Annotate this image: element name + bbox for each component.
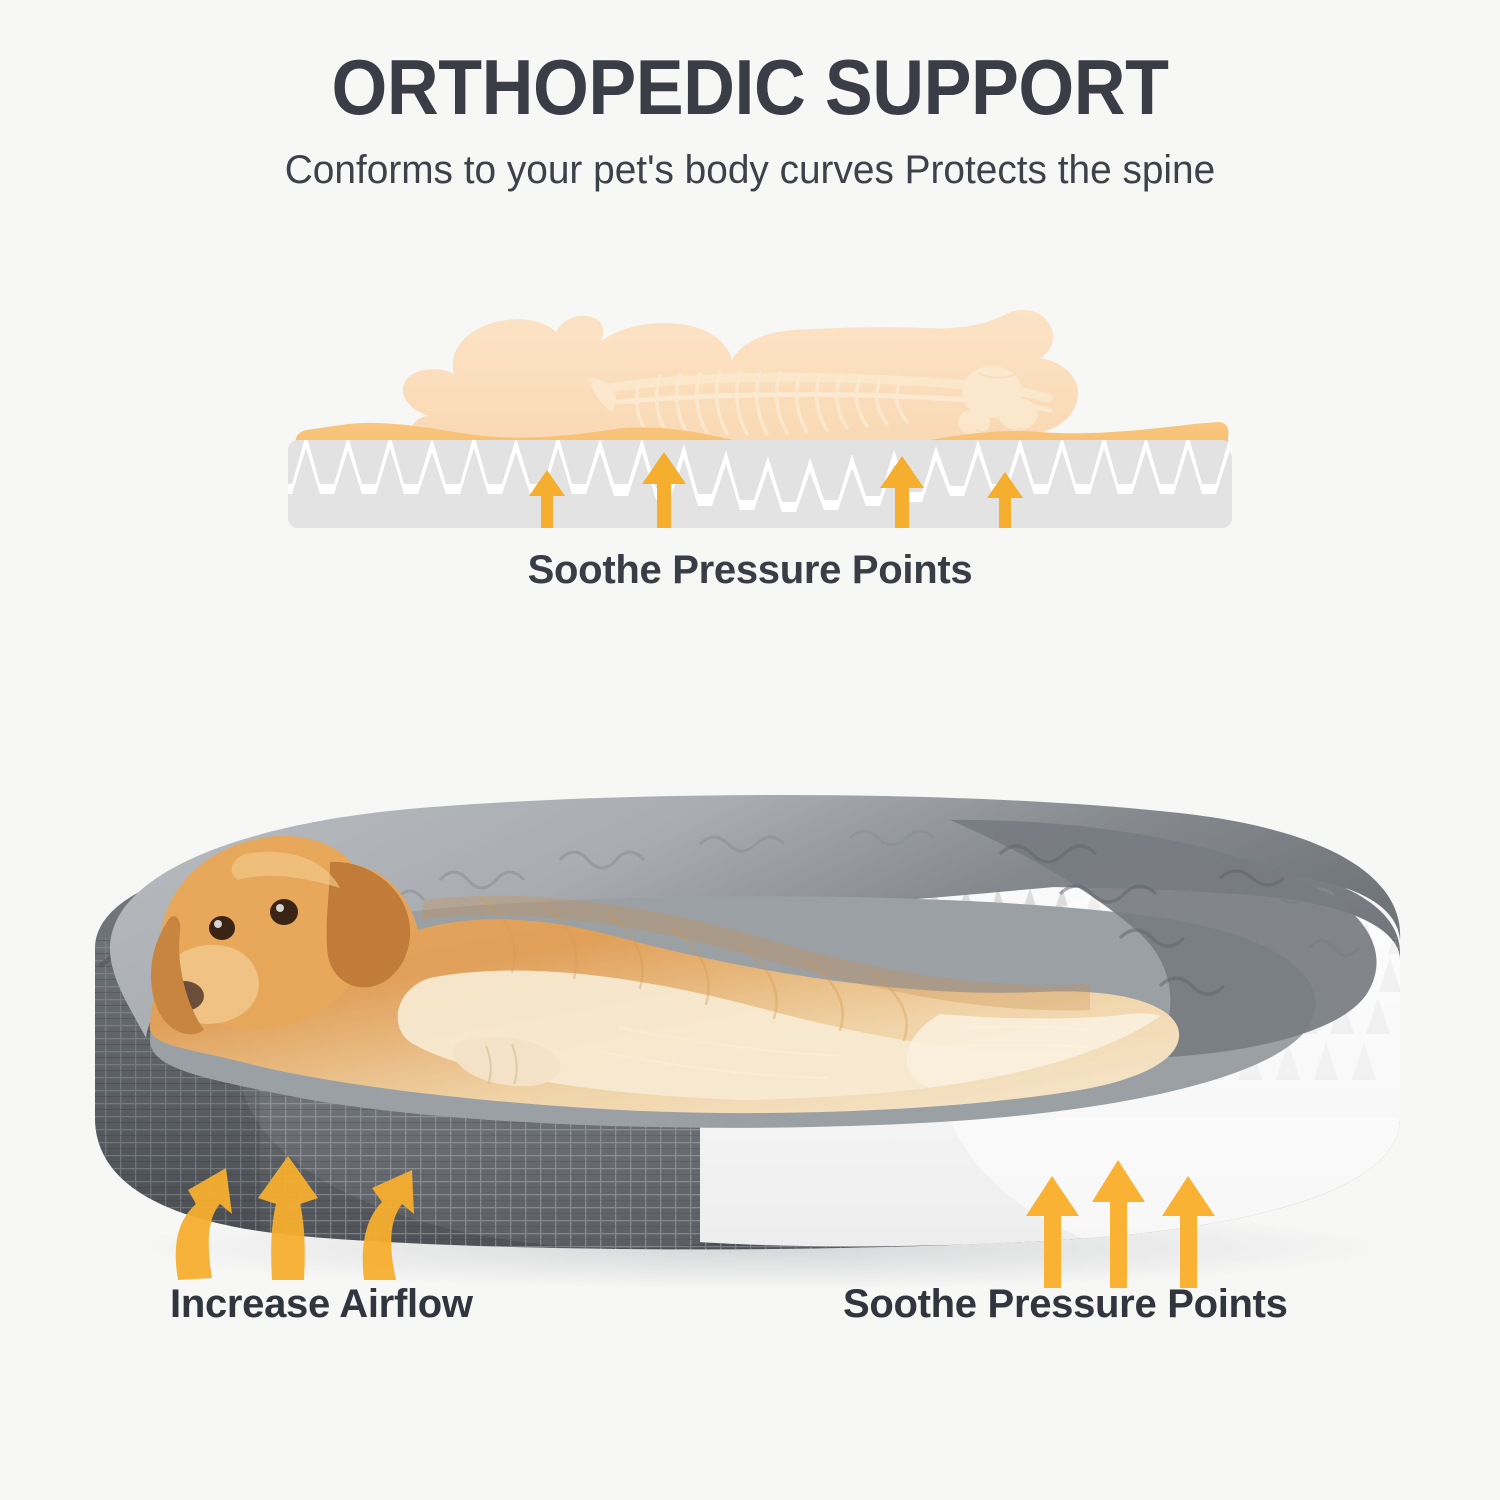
foam-cross-section-diagram bbox=[288, 288, 1232, 528]
page-subtitle: Conforms to your pet's body curves Prote… bbox=[23, 148, 1478, 192]
header-block: ORTHOPEDIC SUPPORT Conforms to your pet'… bbox=[0, 48, 1500, 192]
diagram-caption: Soothe Pressure Points bbox=[0, 548, 1500, 593]
bottom-labels: Increase Airflow Soothe Pressure Points bbox=[0, 1282, 1500, 1352]
dog-eye-left bbox=[209, 916, 235, 940]
product-photo bbox=[0, 648, 1500, 1288]
page-title: ORTHOPEDIC SUPPORT bbox=[60, 48, 1440, 126]
label-soothe-pressure-points: Soothe Pressure Points bbox=[843, 1282, 1288, 1327]
dog-eye-right bbox=[270, 899, 298, 925]
label-increase-airflow: Increase Airflow bbox=[170, 1282, 473, 1327]
product-infographic-page: ORTHOPEDIC SUPPORT Conforms to your pet'… bbox=[0, 0, 1500, 1500]
